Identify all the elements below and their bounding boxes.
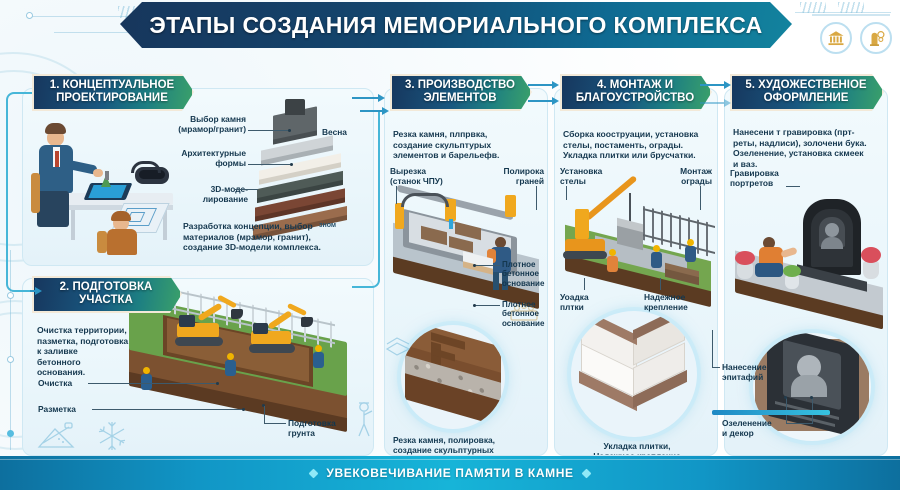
panel2-heading-text: 2. ПОДГОТОВКА УЧАСТКА xyxy=(60,281,153,307)
panel1-heading-text: 1. КОНЦЕПТУАЛЬНОЕ ПРОЕКТИРОВАНИЕ xyxy=(50,79,174,105)
soil-preparation-label: Подготовка грунта xyxy=(288,418,336,438)
background-hatch-3 xyxy=(800,2,826,13)
teal-progress-bar xyxy=(712,410,830,415)
book-stack-icon xyxy=(385,335,411,362)
snowflake-icon xyxy=(95,419,129,456)
panel4-body-text: Сборка кооструации, установка стелы, пос… xyxy=(563,129,718,161)
panel1-heading[interactable]: 1. КОНЦЕПТУАЛЬНОЕ ПРОЕКТИРОВАНИЕ xyxy=(32,74,194,111)
concrete-base-detail-circle xyxy=(401,325,505,429)
dense-concrete-base-label-2: Плотное бетонное основание xyxy=(502,300,550,328)
panel3-heading[interactable]: 3. ПРОИЗВОДСТВО ЭЛЕМЕНТОВ xyxy=(390,74,532,111)
panel1-body-overlay: зном xyxy=(319,221,336,232)
leader-dot-cleaning xyxy=(216,382,219,385)
panel-installation-landscaping: Сборка кооструации, установка стелы, пос… xyxy=(554,88,718,456)
stone-choice-label: Выбор камня (мрамор/гранит) xyxy=(148,114,246,134)
leader-tile xyxy=(584,278,585,290)
panel3-heading-text: 3. ПРОИЗВОДСТВО ЭЛЕМЕНТОВ xyxy=(405,79,515,105)
background-hatch-4 xyxy=(838,2,864,13)
edge-polishing-label: Полирока граней xyxy=(490,166,544,186)
panel4-heading-text: 4. МОНТАЖ И БЛАГОУСТРОЙСТВО xyxy=(576,79,694,105)
diamond-left-icon xyxy=(309,468,319,478)
panel5-heading-text: 5. ХУДОЖЕСТВЕНІОЕ ОФОРМЛЕНИЕ xyxy=(745,79,866,105)
panel5-heading[interactable]: 5. ХУДОЖЕСТВЕНІОЕ ОФОРМЛЕНИЕ xyxy=(730,74,884,111)
epitaph-application-label: Нанесение эпитафий xyxy=(722,362,782,382)
leader-dot-concrete-1 xyxy=(473,264,476,267)
page-title-text: ЭТАПЫ СОЗДАНИЯ МЕМОРИАЛЬНОГО КОМПЛЕКСА xyxy=(149,12,762,39)
header-rule xyxy=(812,14,890,16)
background-node-4 xyxy=(7,430,14,437)
leader-dot-stone-choice xyxy=(288,129,291,132)
leader-fastening xyxy=(660,278,661,290)
cnc-cutting-label: Вырезка (станок ЧПУ) xyxy=(390,166,443,186)
background-rule-3 xyxy=(795,12,891,13)
panel2-heading[interactable]: 2. ПОДГОТОВКА УЧАСТКА xyxy=(32,276,182,313)
footer-bar: УВЕКОВЕЧИВАНИЕ ПАМЯТИ В КАМНЕ xyxy=(0,456,900,490)
leader-concrete-2 xyxy=(476,305,500,306)
leader-soil-prep-v xyxy=(264,406,265,424)
connector-p2-to-p3 xyxy=(352,110,380,288)
panel3-body-text: Резка камня, плпрвка, создание скульптур… xyxy=(393,129,547,161)
connector-p1-to-p2 xyxy=(6,92,32,292)
architectural-forms-label: Архитектурные формы xyxy=(148,148,246,168)
leader-concrete-1 xyxy=(476,265,500,266)
vesna-label: Весна xyxy=(322,127,347,137)
leader-cleaning xyxy=(88,383,218,384)
tile-laying-label: Уоадка плтки xyxy=(560,292,589,312)
leader-stone-choice xyxy=(248,130,290,131)
panel1-body-text: Разработка концепции, выбор материалов (… xyxy=(183,221,373,253)
classical-building-icon[interactable] xyxy=(820,22,852,54)
leader-dot-concrete-2 xyxy=(473,304,476,307)
cnc-machine-illustration xyxy=(387,193,547,309)
footer-content: УВЕКОВЕЧИВАНИЕ ПАМЯТИ В КАМНЕ xyxy=(310,466,589,480)
leader-polishing xyxy=(536,186,537,210)
landscaping-decor-label: Озеленение и декор xyxy=(722,418,786,438)
cleaning-label: Очистка xyxy=(38,378,72,388)
engraving-illustration xyxy=(729,185,887,335)
dense-concrete-base-label-1: Плотное бетонное основание xyxy=(502,260,550,288)
leader-fence xyxy=(700,186,701,210)
fence-mounting-label: Монтаж ограды xyxy=(662,166,712,186)
header-icon-group xyxy=(820,22,892,54)
headstone-wreath-icon[interactable] xyxy=(860,22,892,54)
panel2-body-text: Очистка территории, пазметка, подготовка… xyxy=(37,325,155,378)
tile-laying-detail-circle xyxy=(571,311,697,437)
page-title: ЭТАПЫ СОЗДАНИЯ МЕМОРИАЛЬНОГО КОМПЛЕКСА xyxy=(120,2,792,48)
leader-decor xyxy=(786,423,812,424)
leader-architectural-forms xyxy=(248,164,292,165)
leader-cnc xyxy=(396,186,397,204)
footer-top-rule xyxy=(0,459,900,460)
leader-portrait-engraving xyxy=(786,186,800,187)
panel4-caption: Укладка плитки, Надежное крепление xyxy=(561,441,713,456)
panel3-caption: Резка камня, полировка, создание скульпт… xyxy=(393,435,548,455)
leader-dot-decor2 xyxy=(784,396,787,399)
diamond-right-icon xyxy=(581,468,591,478)
worker-silhouette-icon xyxy=(352,400,378,445)
portrait-engraving-label: Гравировка портретов xyxy=(730,168,779,188)
panel5-body-text: Нанесени т гравировка (прт- реты, надлис… xyxy=(733,127,888,169)
background-node-3 xyxy=(7,356,14,363)
leader-soil-prep xyxy=(264,423,286,424)
background-node-2 xyxy=(7,292,14,299)
panel4-heading[interactable]: 4. МОНТАЖ И БЛАГОУСТРОЙСТВО xyxy=(560,74,712,111)
reliable-fastening-label: Надежное крепление xyxy=(644,292,708,312)
leader-stele xyxy=(566,186,567,200)
3d-modeling-label: 3D-моде- лирование xyxy=(176,184,248,204)
stele-installation-label: Установка стелы xyxy=(560,166,602,186)
background-node-1 xyxy=(26,12,33,19)
marking-label: Разметка xyxy=(38,404,76,414)
shovel-sand-icon xyxy=(33,421,85,456)
leader-epitaph-v xyxy=(712,330,713,368)
leader-3d-modeling xyxy=(234,189,258,190)
leader-dot-architectural-forms xyxy=(290,163,293,166)
leader-marking xyxy=(92,409,244,410)
leader-dot-decor xyxy=(810,396,813,399)
infographic-root: ЭТАПЫ СОЗДАНИЯ МЕМОРИАЛЬНОГО КОМПЛЕКСА xyxy=(0,0,900,490)
panel-artistic-decoration: Нанесени т гравировка (прт- реты, надлис… xyxy=(724,88,888,456)
leader-epitaph xyxy=(712,367,720,368)
footer-text: УВЕКОВЕЧИВАНИЕ ПАМЯТИ В КАМНЕ xyxy=(326,466,573,480)
leader-dot-marking xyxy=(242,408,245,411)
